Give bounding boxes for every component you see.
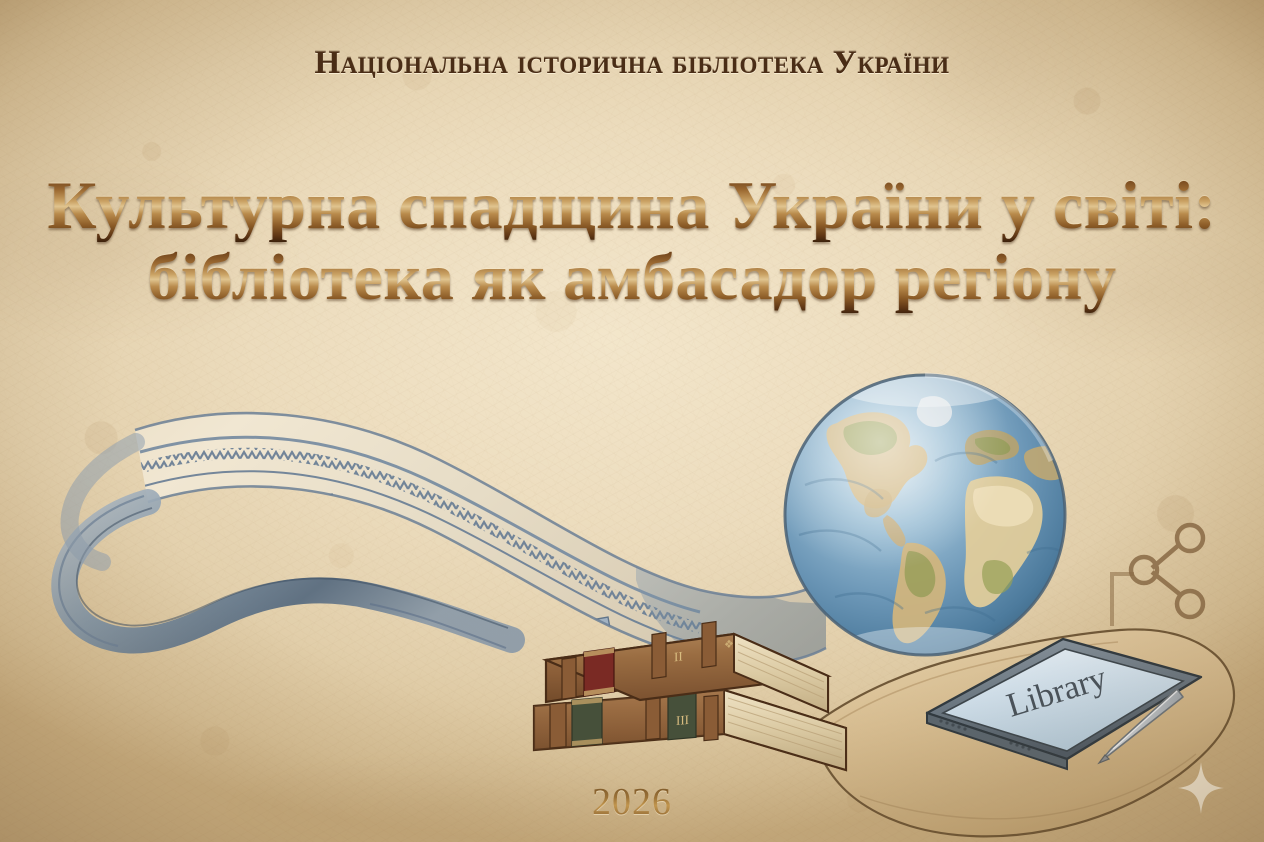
title-line-2: бібліотека як амбасадор регіону bbox=[0, 242, 1264, 314]
page-title: Культурна спадщина України у світі: бібл… bbox=[0, 168, 1264, 314]
organization-name: Національна історична бібліотека України bbox=[0, 45, 1264, 82]
title-line-1: Культурна спадщина України у світі: bbox=[0, 168, 1264, 242]
poster-canvas: III II bbox=[0, 0, 1264, 842]
year-label: 2026 bbox=[0, 780, 1264, 824]
edge-vignette bbox=[0, 0, 1264, 842]
